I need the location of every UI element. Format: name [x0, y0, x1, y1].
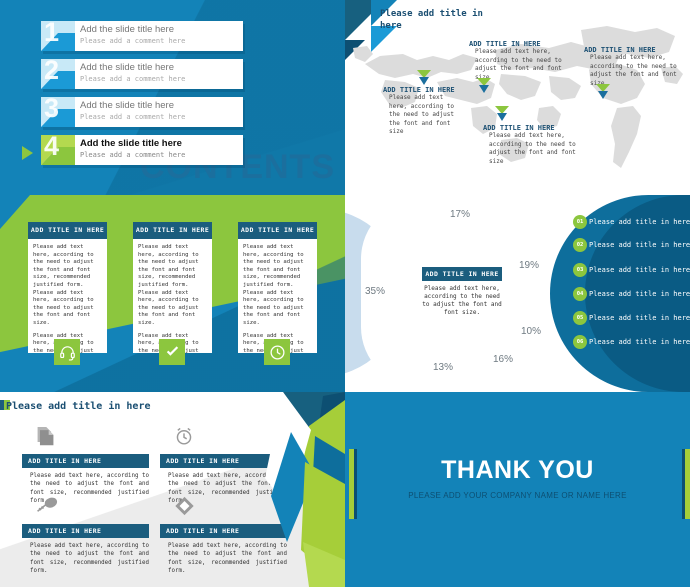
item-number: 2: [44, 59, 59, 85]
map-marker-2[interactable]: ADD TITLE IN HERE Please add text here, …: [469, 40, 565, 82]
item-subtitle: Please add a comment here: [80, 74, 239, 85]
arrow-right-icon: [22, 146, 33, 160]
info-card-1[interactable]: ADD TITLE IN HERE Please add text here, …: [28, 222, 107, 353]
block-title: ADD TITLE IN HERE: [22, 454, 149, 468]
marker-body: Please add text here, according to the n…: [389, 94, 463, 137]
card-body: Please add text here, according to the n…: [28, 239, 107, 353]
card-title: ADD TITLE IN HERE: [28, 222, 107, 239]
legend-badge: 01: [573, 215, 587, 229]
number-wedge: 1: [41, 21, 75, 51]
number-wedge: 4: [41, 135, 75, 165]
slide-thank-you[interactable]: THANK YOU PLEASE ADD YOUR COMPANY NAME O…: [345, 392, 690, 587]
blue-corner-triangle: [0, 195, 30, 229]
map-pin-icon: [596, 84, 610, 100]
pie-label-16: 16%: [493, 354, 513, 365]
card-paragraph-1: Please add text here, according to the n…: [138, 244, 207, 328]
card-title: ADD TITLE IN HERE: [238, 222, 317, 239]
thank-you-subline: PLEASE ADD YOUR COMPANY NAME OR NAME HER…: [345, 491, 690, 500]
card-body: Please add text here, according to the n…: [133, 239, 212, 353]
page-title: Please add title in here: [6, 401, 151, 412]
item-title: Add the slide title here: [80, 99, 239, 112]
slide-world-map[interactable]: Please add title in here: [345, 0, 690, 195]
pie-label-10: 10%: [521, 326, 541, 337]
legend-badge: 02: [573, 238, 587, 252]
map-pin-icon: [477, 78, 491, 94]
map-marker-4[interactable]: ADD TITLE IN HERE Please add text here, …: [584, 46, 680, 88]
slide-three-cards[interactable]: ADD TITLE IN HERE Please add text here, …: [0, 195, 345, 392]
check-glyph: [164, 344, 181, 361]
marker-body: Please add text here, according to the n…: [475, 48, 565, 82]
list-item[interactable]: 2 Add the slide title here Please add a …: [41, 59, 243, 89]
key-icon: [36, 496, 58, 519]
map-pin-icon: [417, 70, 431, 86]
legend-badge: 05: [573, 311, 587, 325]
check-icon: [159, 339, 185, 365]
marker-title: ADD TITLE IN HERE: [584, 46, 680, 54]
legend-item-03[interactable]: 03 Please add title in here: [573, 263, 690, 277]
feature-block-3[interactable]: ADD TITLE IN HERE Please add text here, …: [22, 524, 149, 576]
slide-contents[interactable]: CONTENTS 1 Add the slide title here Plea…: [0, 0, 345, 195]
legend-badge: 04: [573, 287, 587, 301]
legend-badge: 06: [573, 335, 587, 349]
legend-label: Please add title in here: [589, 241, 690, 249]
marker-title: ADD TITLE IN HERE: [469, 40, 565, 48]
alarm-clock-icon: [174, 426, 194, 452]
thank-you-headline: THANK YOU: [345, 456, 690, 485]
map-marker-1[interactable]: ADD TITLE IN HERE Please add text here, …: [383, 86, 463, 137]
decorative-triangles: [253, 392, 345, 587]
slide-four-blocks[interactable]: Please add title in here ADD TITLE IN HE…: [0, 392, 345, 587]
legend-badge: 03: [573, 263, 587, 277]
tag-glyph: [174, 496, 195, 516]
legend-item-06[interactable]: 06 Please add title in here: [573, 335, 690, 349]
legend-item-05[interactable]: 05 Please add title in here: [573, 311, 690, 325]
list-item-active[interactable]: 4 Add the slide title here Please add a …: [41, 135, 243, 165]
item-subtitle: Please add a comment here: [80, 150, 239, 161]
item-number: 4: [44, 135, 59, 161]
key-glyph: [36, 496, 58, 514]
legend-item-04[interactable]: 04 Please add title in here: [573, 287, 690, 301]
slide-pie-chart[interactable]: 17% 19% 10% 16% 13% 35% ADD TITLE IN HER…: [345, 195, 690, 392]
alarm-clock-glyph: [174, 426, 194, 447]
number-wedge: 3: [41, 97, 75, 127]
list-item[interactable]: 3 Add the slide title here Please add a …: [41, 97, 243, 127]
callout-title: ADD TITLE IN HERE: [422, 267, 502, 281]
marker-body: Please add text here, according to the n…: [489, 132, 579, 166]
legend-label: Please add title in here: [589, 314, 690, 322]
card-title: ADD TITLE IN HERE: [133, 222, 212, 239]
info-card-3[interactable]: ADD TITLE IN HERE Please add text here, …: [238, 222, 317, 353]
map-pin-icon: [495, 106, 509, 122]
legend-item-02[interactable]: 02 Please add title in here: [573, 238, 690, 252]
pie-label-35: 35%: [365, 286, 385, 297]
item-subtitle: Please add a comment here: [80, 36, 239, 47]
contents-row-list: 1 Add the slide title here Please add a …: [41, 21, 243, 173]
number-wedge: 2: [41, 59, 75, 89]
pie-center-callout: ADD TITLE IN HERE Please add text here, …: [422, 267, 502, 317]
map-marker-3[interactable]: ADD TITLE IN HERE Please add text here, …: [483, 124, 579, 166]
documents-icon: [36, 426, 55, 452]
item-number: 1: [44, 21, 59, 47]
callout-body: Please add text here, according to the n…: [422, 285, 502, 317]
clock-glyph: [269, 344, 286, 361]
list-item[interactable]: 1 Add the slide title here Please add a …: [41, 21, 243, 51]
legend-label: Please add title in here: [589, 218, 690, 226]
item-subtitle: Please add a comment here: [80, 112, 239, 123]
pie-label-19: 19%: [519, 260, 539, 271]
item-number: 3: [44, 97, 59, 123]
block-body: Please add text here, according to the n…: [22, 542, 149, 576]
info-card-2[interactable]: ADD TITLE IN HERE Please add text here, …: [133, 222, 212, 353]
marker-title: ADD TITLE IN HERE: [383, 86, 463, 94]
item-title: Add the slide title here: [80, 23, 239, 36]
marker-title: ADD TITLE IN HERE: [483, 124, 579, 132]
tag-icon: [174, 496, 195, 521]
pie-label-13: 13%: [433, 362, 453, 373]
block-title: ADD TITLE IN HERE: [22, 524, 149, 538]
marker-body: Please add text here, according to the n…: [590, 54, 680, 88]
clock-icon: [264, 339, 290, 365]
card-paragraph-1: Please add text here, according to the n…: [33, 244, 102, 328]
item-title: Add the slide title here: [80, 61, 239, 74]
legend-item-01[interactable]: 01 Please add title in here: [573, 215, 690, 229]
item-title: Add the slide title here: [80, 137, 239, 150]
headset-icon: [54, 339, 80, 365]
card-paragraph-1: Please add text here, according to the n…: [243, 244, 312, 328]
legend-label: Please add title in here: [589, 290, 690, 298]
slide-deck-grid: CONTENTS 1 Add the slide title here Plea…: [0, 0, 690, 587]
pie-label-17: 17%: [450, 209, 470, 220]
legend-label: Please add title in here: [589, 266, 690, 274]
card-body: Please add text here, according to the n…: [238, 239, 317, 353]
headset-glyph: [59, 344, 76, 361]
legend-label: Please add title in here: [589, 338, 690, 346]
documents-glyph: [36, 426, 55, 447]
